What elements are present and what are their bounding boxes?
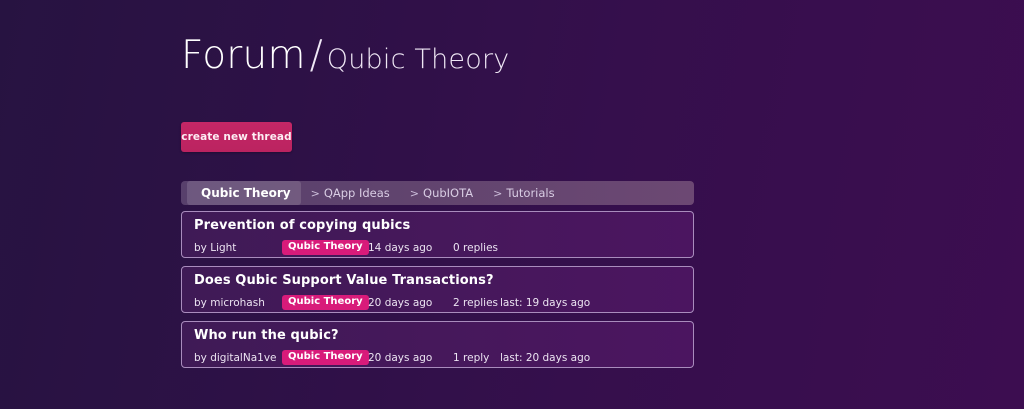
- thread-date: 20 days ago: [368, 297, 432, 309]
- thread-author: by microhash: [194, 297, 265, 309]
- forum-page: Forum/Qubic Theory create new thread Qub…: [181, 0, 701, 409]
- thread-title[interactable]: Who run the qubic?: [194, 329, 693, 343]
- thread-row[interactable]: Prevention of copying qubics by Light Qu…: [181, 211, 694, 258]
- thread-date: 20 days ago: [368, 352, 432, 364]
- thread-tag-badge[interactable]: Qubic Theory: [282, 240, 369, 255]
- chevron-right-icon: >: [311, 187, 320, 200]
- chevron-right-icon: >: [410, 187, 419, 200]
- create-new-thread-button[interactable]: create new thread: [181, 122, 292, 152]
- tab-label: QApp Ideas: [324, 186, 390, 200]
- thread-title[interactable]: Prevention of copying qubics: [194, 219, 693, 233]
- thread-title[interactable]: Does Qubic Support Value Transactions?: [194, 274, 693, 288]
- tab-tutorials[interactable]: > Tutorials: [483, 181, 565, 205]
- thread-tag-badge[interactable]: Qubic Theory: [282, 295, 369, 310]
- tab-label: Qubic Theory: [201, 186, 291, 200]
- thread-last-activity: last: 19 days ago: [500, 297, 590, 309]
- thread-meta: by digitalNa1ve Qubic Theory 20 days ago…: [194, 350, 693, 366]
- page-title-main: Forum: [181, 33, 306, 78]
- thread-reply-count: 0 replies: [453, 242, 498, 254]
- thread-reply-count: 2 replies: [453, 297, 498, 309]
- tab-qubiota[interactable]: > QubIOTA: [400, 181, 483, 205]
- thread-meta: by microhash Qubic Theory 20 days ago 2 …: [194, 295, 693, 311]
- thread-date: 14 days ago: [368, 242, 432, 254]
- tag-label: Qubic Theory: [282, 295, 369, 310]
- page-title-separator: /: [306, 33, 327, 78]
- chevron-right-icon: >: [493, 187, 502, 200]
- thread-author: by digitalNa1ve: [194, 352, 277, 364]
- thread-row[interactable]: Who run the qubic? by digitalNa1ve Qubic…: [181, 321, 694, 368]
- tag-label: Qubic Theory: [282, 350, 369, 365]
- page-title-sub: Qubic Theory: [327, 44, 510, 75]
- thread-last-activity: last: 20 days ago: [500, 352, 590, 364]
- thread-author: by Light: [194, 242, 236, 254]
- page-title: Forum/Qubic Theory: [181, 36, 509, 75]
- category-tabbar: Qubic Theory > QApp Ideas > QubIOTA > Tu…: [181, 181, 694, 205]
- thread-tag-badge[interactable]: Qubic Theory: [282, 350, 369, 365]
- thread-row[interactable]: Does Qubic Support Value Transactions? b…: [181, 266, 694, 313]
- thread-meta: by Light Qubic Theory 14 days ago 0 repl…: [194, 240, 693, 256]
- tag-label: Qubic Theory: [282, 240, 369, 255]
- thread-reply-count: 1 reply: [453, 352, 489, 364]
- thread-list: Prevention of copying qubics by Light Qu…: [181, 211, 694, 376]
- tab-label: Tutorials: [506, 186, 554, 200]
- tab-label: QubIOTA: [423, 186, 473, 200]
- tab-qapp-ideas[interactable]: > QApp Ideas: [301, 181, 400, 205]
- tab-qubic-theory[interactable]: Qubic Theory: [187, 181, 301, 205]
